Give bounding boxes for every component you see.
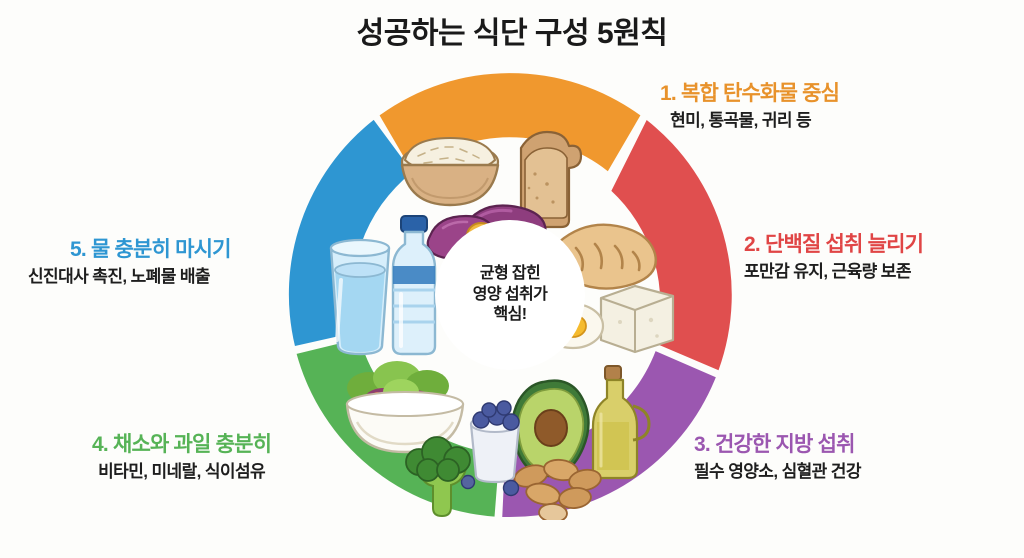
label-vegetables-heading: 4. 채소와 과일 충분히 [92,431,271,458]
label-water[interactable]: 5. 물 충분히 마시기 신진대사 촉진, 노폐물 배출 [28,236,231,288]
label-vegetables-sub: 비타민, 미네랄, 식이섬유 [92,461,271,483]
page-title: 성공하는 식단 구성 5원칙 [0,8,1024,52]
label-water-sub: 신진대사 촉진, 노폐물 배출 [28,266,231,288]
label-carbs-sub: 현미, 통곡물, 귀리 등 [660,110,839,132]
label-carbs-heading: 1. 복합 탄수화물 중심 [660,80,839,107]
center-line-2: 영양 섭취가 [473,285,547,305]
center-message: 균형 잡힌 영양 섭취가 핵심! [435,220,585,370]
label-carbs[interactable]: 1. 복합 탄수화물 중심 현미, 통곡물, 귀리 등 [660,80,839,132]
infographic-canvas: 성공하는 식단 구성 5원칙 [0,0,1024,558]
blueberry-cup-icon [462,401,520,496]
label-vegetables[interactable]: 4. 채소와 과일 충분히 비타민, 미네랄, 식이섬유 [92,431,271,483]
label-fat-sub: 필수 영양소, 심혈관 건강 [694,461,861,483]
label-protein[interactable]: 2. 단백질 섭취 늘리기 포만감 유지, 근육량 보존 [744,231,923,283]
label-protein-heading: 2. 단백질 섭취 늘리기 [744,231,923,258]
water-glass-icon [331,240,389,354]
label-fat[interactable]: 3. 건강한 지방 섭취 필수 영양소, 심혈관 건강 [694,431,861,483]
donut-chart: 균형 잡힌 영양 섭취가 핵심! [285,70,735,520]
rice-bowl-icon [402,138,498,205]
salad-bowl-icon [347,361,463,452]
label-water-heading: 5. 물 충분히 마시기 [28,236,231,263]
center-line-1: 균형 잡힌 [480,264,540,284]
tofu-icon [601,286,673,352]
fat-food-cluster [512,366,649,520]
label-fat-heading: 3. 건강한 지방 섭취 [694,431,861,458]
center-line-3: 핵심! [494,305,527,325]
label-protein-sub: 포만감 유지, 근육량 보존 [744,261,923,283]
